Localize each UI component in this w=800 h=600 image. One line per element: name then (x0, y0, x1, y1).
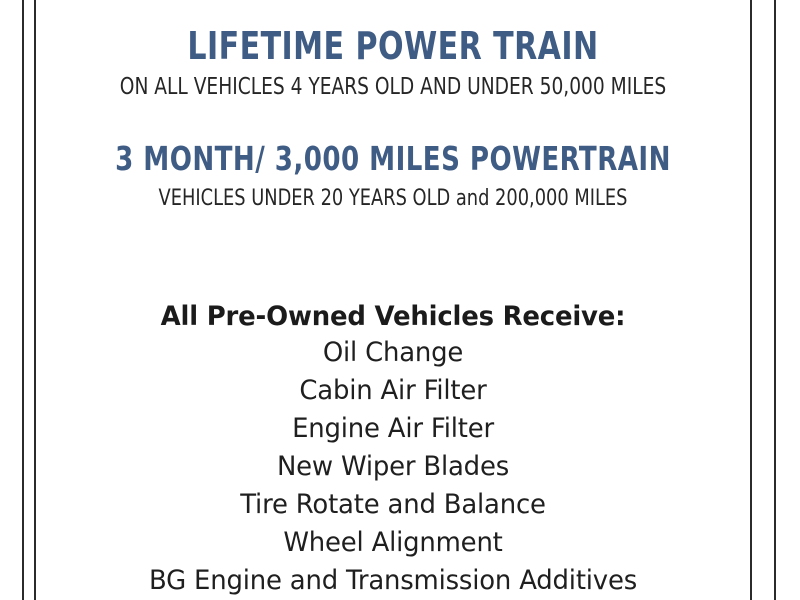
warranty-subtitle-three-month: VEHICLES UNDER 20 YEARS OLD and 200,000 … (72, 184, 715, 213)
included-services-heading: All Pre-Owned Vehicles Receive: (50, 300, 735, 334)
frame-rule-right-inner (750, 0, 752, 600)
list-item: Tire Rotate and Balance (50, 486, 735, 524)
flyer-content-column: LIFETIME POWER TRAIN ON ALL VEHICLES 4 Y… (36, 0, 750, 600)
included-services-block: All Pre-Owned Vehicles Receive: Oil Chan… (36, 300, 750, 600)
list-item: Engine Air Filter (50, 410, 735, 448)
warranty-subtitle-lifetime: ON ALL VEHICLES 4 YEARS OLD AND UNDER 50… (72, 72, 715, 102)
list-item: Oil Change (50, 334, 735, 372)
frame-rule-left-outer (22, 0, 24, 600)
frame-rule-right-outer (774, 0, 776, 600)
list-item: Wheel Alignment (50, 524, 735, 562)
warranty-title-three-month: 3 MONTH/ 3,000 MILES POWERTRAIN (79, 141, 707, 177)
list-item: New Wiper Blades (50, 448, 735, 486)
warranty-block-three-month: 3 MONTH/ 3,000 MILES POWERTRAIN VEHICLES… (36, 141, 750, 213)
included-services-list: Oil Change Cabin Air Filter Engine Air F… (36, 334, 750, 600)
warranty-title-lifetime: LIFETIME POWER TRAIN (79, 26, 707, 66)
list-item: Cabin Air Filter (50, 372, 735, 410)
warranty-flyer-page: { "page": { "background_color": "#ffffff… (0, 0, 800, 600)
list-item: BG Engine and Transmission Additives (50, 562, 735, 600)
warranty-block-lifetime: LIFETIME POWER TRAIN ON ALL VEHICLES 4 Y… (36, 26, 750, 102)
